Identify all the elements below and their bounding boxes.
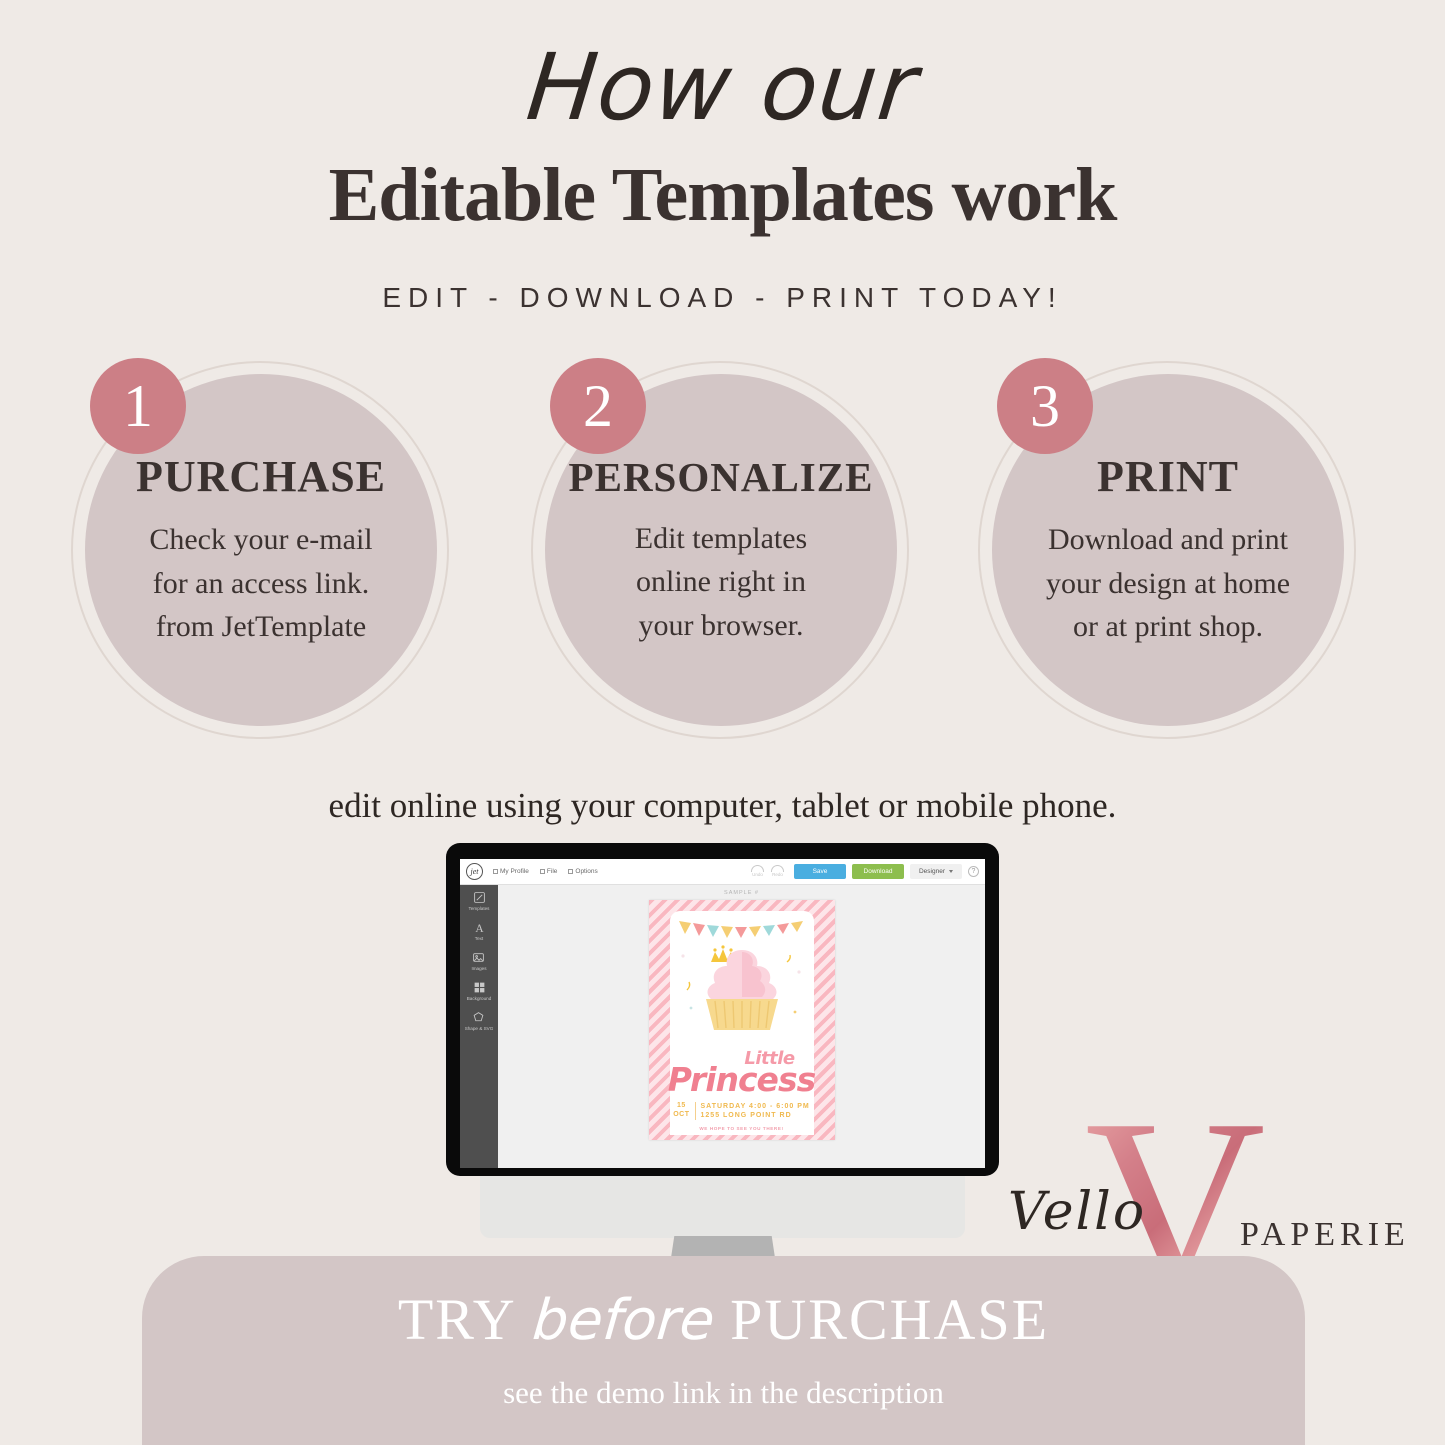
step-desc-line: your browser. [635,604,807,648]
editor-menu: My Profile File Options [493,868,598,875]
sidebar-item-templates[interactable]: Templates [469,891,490,911]
step-desc-line: Edit templates [635,517,807,561]
step-card-2: PERSONALIZE Edit templates online right … [528,358,928,743]
sidebar-label: Images [471,966,486,971]
background-icon [473,981,486,994]
step-title: PRINT [1097,451,1239,502]
step-card-3: PRINT Download and print your design at … [975,358,1375,743]
cupcake-icon [649,936,835,1034]
monitor-screen: jet My Profile File Options [460,859,985,1168]
images-icon [472,951,485,964]
page-subtitle: EDIT - DOWNLOAD - PRINT TODAY! [0,282,1445,314]
help-icon[interactable]: ? [968,866,979,877]
sidebar-item-background[interactable]: Background [467,981,492,1001]
step-description: Edit templates online right in your brow… [635,517,807,648]
menu-label: Options [575,868,597,875]
brand-script-name: Vello [1008,1182,1146,1242]
save-button[interactable]: Save [794,864,846,879]
redo-icon [771,865,784,872]
sample-label: SAMPLE # [724,890,759,896]
menu-item-my-profile[interactable]: My Profile [493,868,529,875]
step-card-1: PURCHASE Check your e-mail for an access… [68,358,468,743]
card-footer-text: WE HOPE TO SEE YOU THERE! [649,1126,835,1131]
sidebar-label: Shape & SVG [465,1026,494,1031]
menu-item-file[interactable]: File [540,868,557,875]
brand-wordmark: PAPERIE [1240,1216,1410,1254]
editor-toolbar: jet My Profile File Options [460,859,985,885]
sidebar-label: Background [467,996,492,1001]
step-description: Check your e-mail for an access link. fr… [149,518,372,649]
step-desc-line: online right in [635,560,807,604]
templates-icon [473,891,486,904]
svg-text:A: A [475,923,484,934]
designer-label: Designer [919,868,945,875]
bottom-banner: TRY before PURCHASE see the demo link in… [142,1256,1305,1445]
step-desc-line: for an access link. [149,562,372,606]
step-desc-line: or at print shop. [1046,605,1290,649]
banner-word-before: before [530,1288,717,1353]
invitation-card[interactable]: Little Princess 15 OCT SATURDAY 4:00 - 6… [649,900,835,1140]
step-number-badge: 2 [550,358,646,454]
redo-label: Redo [772,872,783,877]
step-desc-line: from JetTemplate [149,605,372,649]
sidebar-item-images[interactable]: Images [471,951,486,971]
file-icon [540,869,545,874]
step-number-badge: 1 [90,358,186,454]
user-icon [493,869,498,874]
card-when: SATURDAY 4:00 - 6:00 PM [701,1102,810,1111]
banner-word-purchase: PURCHASE [730,1286,1049,1353]
step-desc-line: Download and print [1046,518,1290,562]
redo-button[interactable]: Redo [771,865,784,878]
step-title: PURCHASE [136,451,386,502]
banner-subtext: see the demo link in the description [142,1375,1305,1411]
step-number-badge: 3 [997,358,1093,454]
monitor-chin [480,1176,965,1238]
page-header: How our Editable Templates work EDIT - D… [0,0,1445,314]
card-when-where: SATURDAY 4:00 - 6:00 PM 1255 LONG POINT … [701,1102,810,1120]
sidebar-label: Templates [469,906,490,911]
sidebar-label: Text [475,936,483,941]
download-button[interactable]: Download [852,864,904,879]
shape-svg-icon [472,1011,485,1024]
steps-section: PURCHASE Check your e-mail for an access… [0,358,1445,758]
card-princess-text: Princess [649,1060,835,1099]
menu-label: My Profile [500,868,529,875]
step-title: PERSONALIZE [569,453,874,501]
script-title: How our [0,42,1445,134]
editor-sidebar: Templates A Text Images [460,885,498,1168]
banner-headline: TRY before PURCHASE [142,1286,1305,1353]
card-date: 15 OCT [673,1102,689,1120]
card-date-day: 15 [673,1102,689,1111]
sidebar-item-shape-svg[interactable]: Shape & SVG [465,1011,494,1031]
options-icon [568,869,573,874]
jet-logo-icon[interactable]: jet [466,863,483,880]
monitor-bezel: jet My Profile File Options [446,843,999,1176]
card-date-month: OCT [673,1111,689,1120]
text-icon: A [473,921,486,934]
sidebar-item-text[interactable]: A Text [473,921,486,941]
step-description: Download and print your design at home o… [1046,518,1290,649]
undo-label: Undo [752,872,763,877]
banner-word-try: TRY [398,1286,517,1353]
card-where: 1255 LONG POINT RD [701,1111,810,1120]
undo-icon [751,865,764,872]
page-title: Editable Templates work [0,156,1445,236]
designer-dropdown[interactable]: Designer [910,864,962,879]
menu-item-options[interactable]: Options [568,868,597,875]
step-desc-line: Check your e-mail [149,518,372,562]
editor-canvas[interactable]: SAMPLE # [498,885,985,1168]
chevron-down-icon [949,870,953,873]
monitor-mockup: jet My Profile File Options [446,843,999,1263]
history-controls: Undo Redo [751,865,784,878]
card-details: 15 OCT SATURDAY 4:00 - 6:00 PM 1255 LONG… [649,1102,835,1120]
editor-toolbar-right: Undo Redo Save Download Designer ? [751,864,979,879]
menu-label: File [547,868,557,875]
editor-body: Templates A Text Images [460,885,985,1168]
device-caption: edit online using your computer, tablet … [0,786,1445,826]
undo-button[interactable]: Undo [751,865,764,878]
step-desc-line: your design at home [1046,562,1290,606]
card-divider [695,1102,696,1120]
